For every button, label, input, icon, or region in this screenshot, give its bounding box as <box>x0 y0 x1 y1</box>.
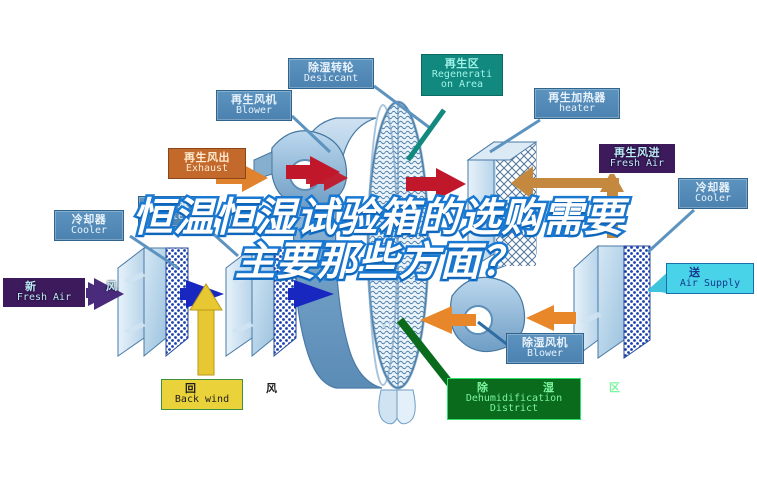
callout-regeneration-area-en: Regenerati on Area <box>428 70 496 91</box>
callout-desiccant-rotor-cn: 除湿转轮 <box>295 62 367 74</box>
callout-cooler-right-en: Cooler <box>685 194 741 205</box>
cooler-block-left <box>118 248 188 356</box>
callout-fresh-air-inlet: 新 风 Fresh Air <box>2 277 86 308</box>
callout-regeneration-blower: 再生风机 Blower <box>216 90 292 121</box>
callout-back-wind-cn: 回 风 <box>169 383 235 395</box>
callout-cooler-left-back: 冷却器 Cooler <box>138 196 206 227</box>
cooler-block-left-second <box>226 248 296 356</box>
regeneration-heater-unit <box>468 142 536 270</box>
callout-dehumidification-district-en: Dehumidification District <box>455 394 573 415</box>
callout-dehumidification-district-cn: 除 湿 区 <box>455 382 573 394</box>
callout-cooler-left: 冷却器 Cooler <box>54 210 124 241</box>
callout-cooler-left-cn: 冷却器 <box>61 214 117 226</box>
callout-regeneration-heater: 再生加热器 heater <box>534 88 620 119</box>
callout-dehumidification-blower: 除湿风机 Blower <box>506 333 584 364</box>
callout-dehumidification-blower-en: Blower <box>513 349 577 360</box>
callout-back-wind: 回 风 Back wind <box>161 379 243 410</box>
callout-back-wind-en: Back wind <box>169 395 235 406</box>
callout-cooler-left-en: Cooler <box>61 226 117 237</box>
callout-regeneration-fresh-air-cn: 再生风进 <box>605 147 669 159</box>
dehumidifier-diagram: xt <box>0 0 757 488</box>
callout-dehumidification-blower-cn: 除湿风机 <box>513 337 577 349</box>
arrow-dehumid-orange-2 <box>526 305 576 331</box>
callout-air-supply-en: Air Supply <box>673 279 747 290</box>
callout-exhaust-cn: 再生风出 <box>175 152 239 164</box>
svg-text:xt: xt <box>380 319 393 334</box>
callout-air-supply: 送 风 Air Supply <box>666 263 754 294</box>
callout-regeneration-blower-en: Blower <box>223 106 285 117</box>
supply-coil-block <box>574 246 650 358</box>
callout-desiccant-rotor: 除湿转轮 Desiccant <box>288 58 374 89</box>
callout-regeneration-fresh-air-en: Fresh Air <box>605 159 669 170</box>
callout-regeneration-heater-en: heater <box>541 104 613 115</box>
callout-air-supply-cn: 送 风 <box>673 267 747 279</box>
callout-cooler-left-back-cn: 冷却器 <box>145 200 199 212</box>
callout-regeneration-area: 再生区 Regenerati on Area <box>421 54 503 96</box>
callout-regeneration-heater-cn: 再生加热器 <box>541 92 613 104</box>
image-canvas: xt <box>0 0 757 488</box>
callout-regeneration-fresh-air: 再生风进 Fresh Air <box>598 143 676 174</box>
callout-desiccant-rotor-en: Desiccant <box>295 74 367 85</box>
callout-dehumidification-district: 除 湿 区 Dehumidification District <box>447 378 581 420</box>
callout-regeneration-blower-cn: 再生风机 <box>223 94 285 106</box>
callout-regeneration-area-cn: 再生区 <box>428 58 496 70</box>
callout-cooler-left-back-en: Cooler <box>145 212 199 223</box>
callout-exhaust: 再生风出 Exhaust <box>168 148 246 179</box>
callout-cooler-right-cn: 冷却器 <box>685 182 741 194</box>
callout-exhaust-en: Exhaust <box>175 164 239 175</box>
callout-fresh-air-inlet-cn: 新 风 <box>9 281 79 293</box>
callout-cooler-right: 冷却器 Cooler <box>678 178 748 209</box>
callout-fresh-air-inlet-en: Fresh Air <box>9 293 79 304</box>
